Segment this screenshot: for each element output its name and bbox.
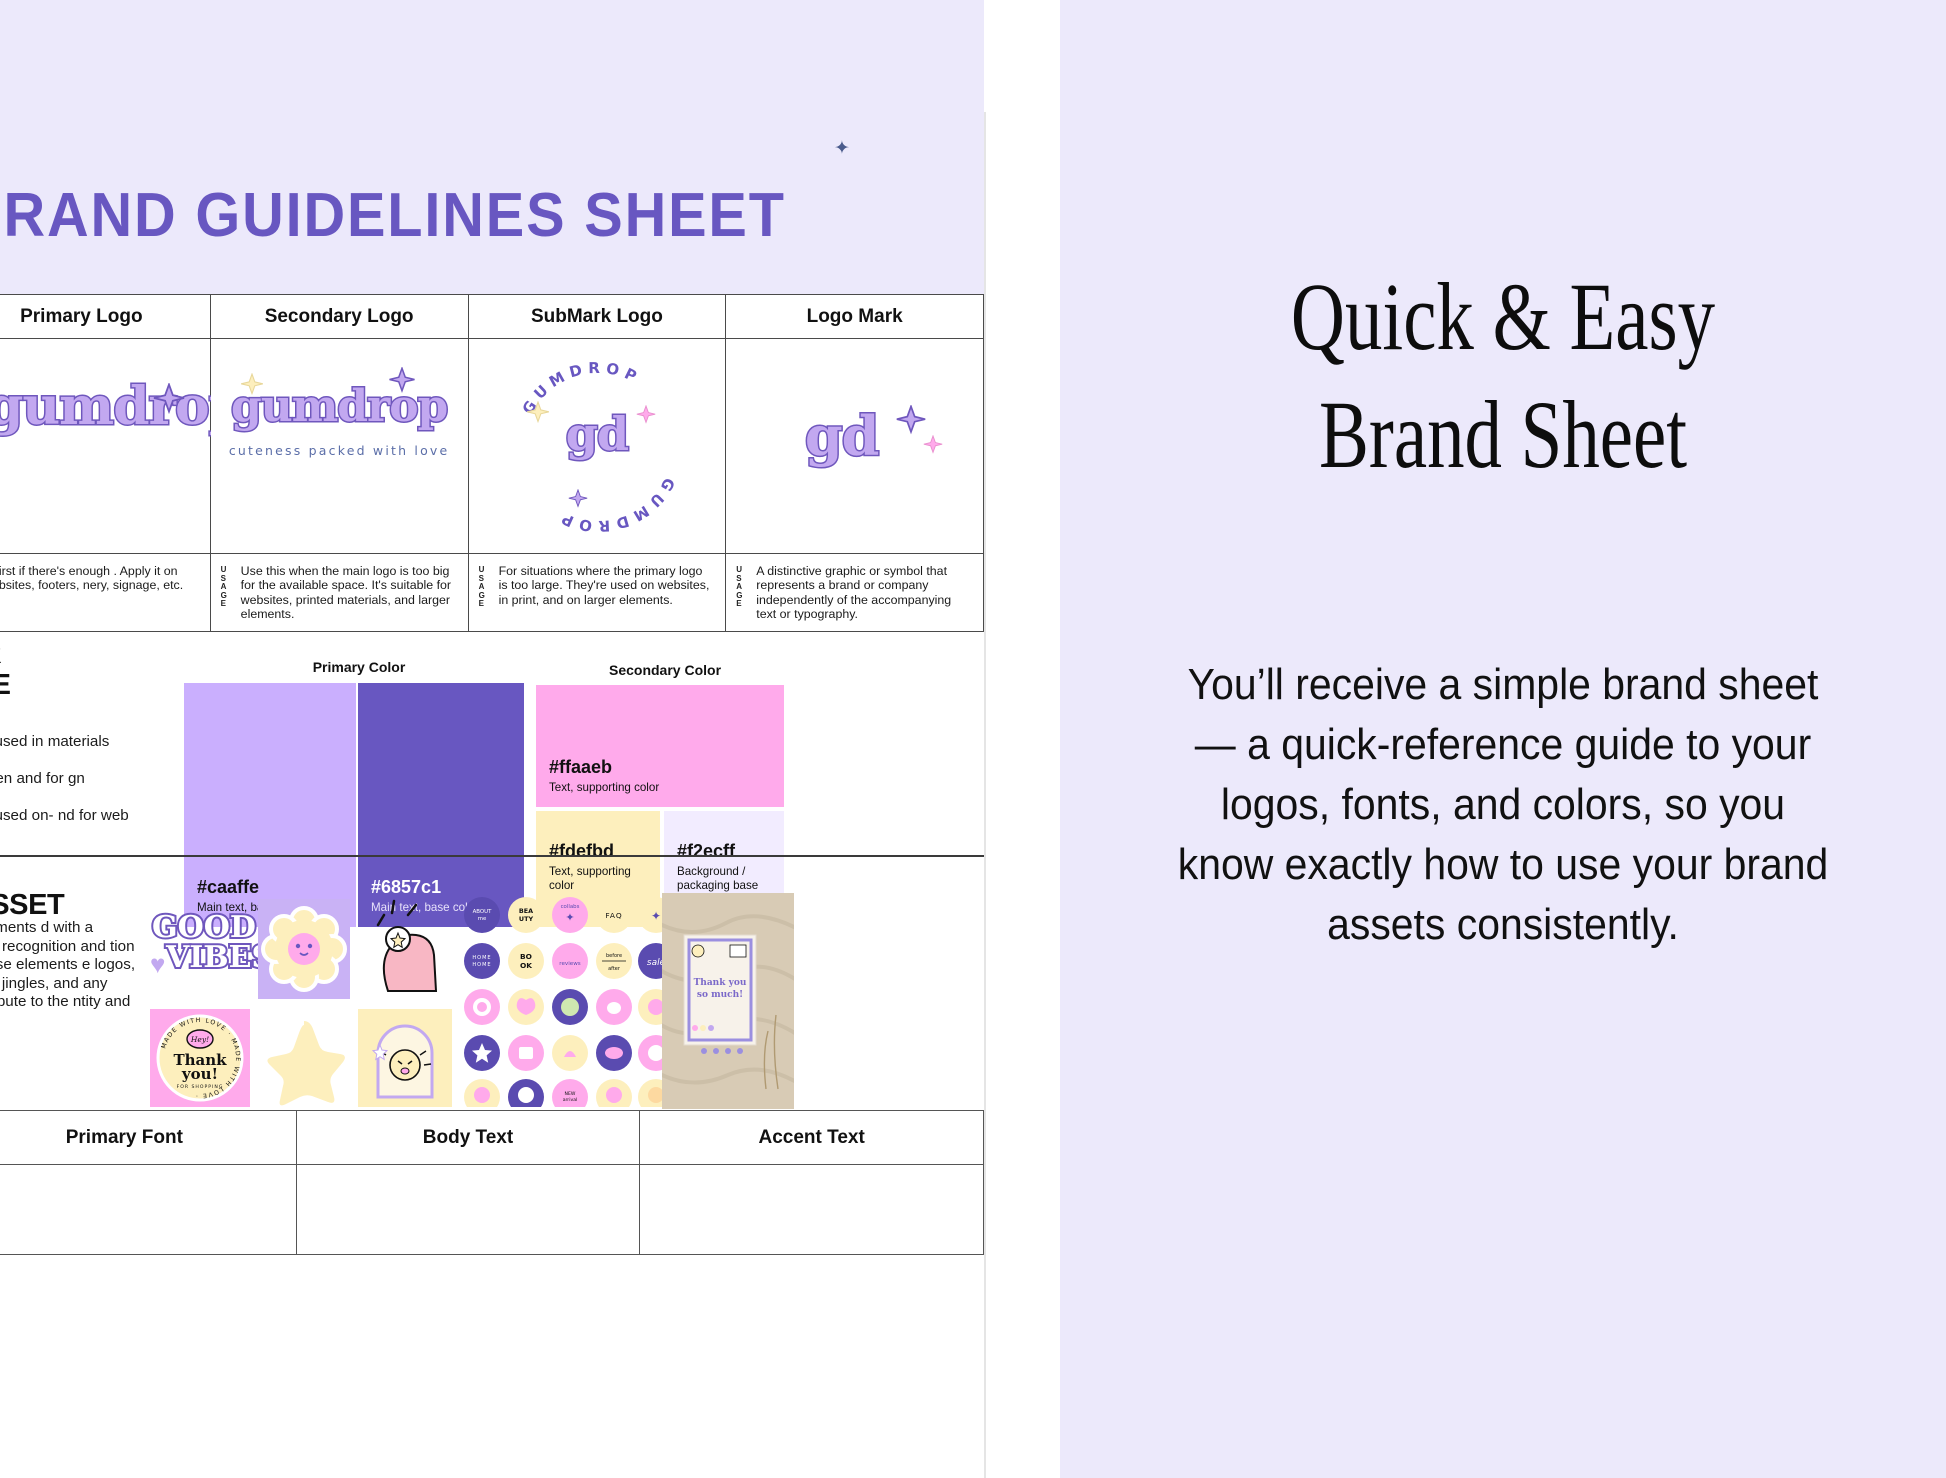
promo-panel: Quick & Easy Brand Sheet You’ll receive …	[1060, 0, 1946, 1478]
promo-headline: Quick & Easy Brand Sheet	[1157, 258, 1848, 494]
svg-text:ABOUT: ABOUT	[473, 909, 492, 915]
palette-desc-line-1: the colours used in materials	[0, 731, 156, 752]
svg-text:NEW: NEW	[565, 1091, 576, 1097]
paper-edge-shadow	[984, 112, 986, 1478]
palette-desc-line-2: sed on-screen and for gn	[0, 768, 156, 789]
usage-label: USAGE	[736, 566, 745, 609]
font-col-header-body: Body Text	[296, 1111, 640, 1165]
svg-text:collabs: collabs	[561, 904, 580, 910]
svg-text:BEA: BEA	[519, 907, 533, 915]
svg-text:✦: ✦	[651, 909, 661, 923]
swatch-usage: Background / packaging base	[677, 865, 775, 892]
svg-text:reviews: reviews	[559, 961, 580, 967]
sheet-body: Primary Logo Secondary Logo SubMark Logo…	[0, 294, 984, 1478]
svg-text:before: before	[606, 953, 622, 959]
svg-text:you!: you!	[181, 1065, 218, 1083]
svg-text:arrival: arrival	[563, 1097, 578, 1103]
swatch-hex: #fdefbd	[549, 841, 614, 862]
promo-headline-line1: Quick & Easy	[1157, 258, 1848, 376]
usage-label: USAGE	[479, 566, 488, 609]
sticker-arch-tile	[358, 1009, 452, 1107]
star-icon	[258, 1009, 350, 1107]
brand-asset-heading: ND ASSET	[0, 889, 64, 922]
svg-text:UTY: UTY	[519, 915, 534, 923]
svg-text:FOR SHOPPING: FOR SHOPPING	[177, 1084, 224, 1090]
usage-text: is first if there's enough . Apply it on…	[0, 564, 198, 593]
flower-icon	[258, 899, 350, 999]
logo-usage-table: Primary Logo Secondary Logo SubMark Logo…	[0, 294, 984, 632]
secondary-color-group-label: Secondary Color	[540, 662, 790, 678]
typography-table: Primary Font Body Text Accent Text	[0, 1110, 984, 1255]
svg-text:✦: ✦	[565, 911, 574, 924]
promo-headline-line2: Brand Sheet	[1157, 376, 1848, 494]
sticker-star	[258, 1009, 350, 1107]
thank-you-circle-icon: MADE WITH LOVE · MADE WITH LOVE · Hey! T…	[150, 1009, 250, 1107]
good-vibes-line1: GOOD	[152, 915, 256, 941]
swatch-usage: Text, supporting color	[549, 781, 659, 795]
logo-col-header-primary: Primary Logo	[0, 295, 210, 339]
primary-logo-usage-cell: USAGE is first if there's enough . Apply…	[0, 554, 210, 632]
logo-col-header-logomark: Logo Mark	[726, 295, 984, 339]
logo-col-header-submark: SubMark Logo	[468, 295, 726, 339]
swatch-hex: #ffaaeb	[549, 757, 612, 778]
star-icon	[567, 489, 589, 511]
palette-description: the colours used in materials sed on-scr…	[0, 731, 156, 863]
font-sample-accent	[640, 1165, 984, 1255]
usage-text: A distinctive graphic or symbol that rep…	[756, 564, 971, 622]
sticker-good-vibes: GOOD VIBES ♥	[150, 899, 250, 997]
font-col-header-accent: Accent Text	[640, 1111, 984, 1165]
logo-mark-cell: gd	[726, 339, 984, 554]
hand-ok-icon	[358, 895, 452, 999]
sparkle-icon: ✦	[834, 139, 850, 158]
primary-color-group-label: Primary Color	[226, 659, 492, 675]
brand-sheet-preview: BRAND GUIDELINES SHEET ✦ Primary Logo Se…	[0, 0, 1060, 1478]
svg-text:Hey!: Hey!	[190, 1035, 209, 1044]
svg-text:FAQ: FAQ	[605, 911, 622, 920]
svg-text:after: after	[608, 966, 621, 972]
usage-text: For situations where the primary logo is…	[499, 564, 714, 607]
swatch-usage: Text, supporting color	[549, 865, 643, 892]
usage-label: USAGE	[221, 566, 230, 609]
submark-logo-cell: GUMDROP GUMDROP gd	[468, 339, 726, 554]
font-sample-body	[296, 1165, 640, 1255]
star-icon	[525, 401, 551, 427]
svg-text:OK: OK	[520, 961, 532, 970]
primary-logo-wordmark-top: gumdrop	[0, 381, 244, 433]
font-sample-primary	[0, 1165, 296, 1255]
font-table-sample-row	[0, 1165, 984, 1255]
star-icon	[894, 405, 928, 439]
palette-heading-line1: OUR	[0, 639, 11, 670]
palette-heading: OUR ETTE	[0, 639, 11, 701]
font-table-header-row: Primary Font Body Text Accent Text	[0, 1111, 984, 1165]
sticker-sheet-circles: ABOUTme BEAUTY collabs✦ FAQ ✦ HOMEHOME B…	[460, 895, 670, 1107]
svg-text:Thank you: Thank you	[694, 978, 747, 988]
section-divider	[0, 855, 984, 857]
submark-monogram: gd	[469, 411, 726, 457]
svg-text:HOME: HOME	[472, 955, 491, 961]
star-icon	[387, 367, 417, 397]
swatch-6857c1: #6857c1 Main text, base color	[358, 683, 524, 927]
svg-text:me: me	[478, 916, 487, 922]
sticker-circle-grid-icon: ABOUTme BEAUTY collabs✦ FAQ ✦ HOMEHOME B…	[460, 895, 670, 1107]
secondary-logo-usage-cell: USAGE Use this when the main logo is too…	[210, 554, 468, 632]
sticker-thank-you: MADE WITH LOVE · MADE WITH LOVE · Hey! T…	[150, 1009, 250, 1107]
swatch-hex: #f2ecff	[677, 841, 735, 862]
sticker-hand	[358, 895, 452, 999]
primary-logo-cell: gumdrop	[0, 339, 210, 554]
logo-table-header-row: Primary Logo Secondary Logo SubMark Logo…	[0, 295, 984, 339]
secondary-logo-tagline: cuteness packed with love	[211, 443, 468, 458]
swatch-ffaaeb: #ffaaeb Text, supporting color	[536, 685, 784, 807]
usage-text: Use this when the main logo is too big f…	[241, 564, 456, 622]
brand-asset-description: distinctive elements d with a brand that…	[0, 919, 136, 1031]
font-col-header-primary: Primary Font	[0, 1111, 296, 1165]
heart-icon: ♥	[150, 949, 165, 980]
svg-text:HOME: HOME	[472, 962, 491, 968]
star-icon	[151, 383, 187, 419]
page-title: BRAND GUIDELINES SHEET	[0, 180, 890, 251]
star-icon	[635, 405, 657, 427]
sticker-flower-tile	[258, 899, 350, 999]
svg-text:BO: BO	[520, 952, 532, 961]
arch-frame-icon	[358, 1009, 452, 1107]
logo-mark-usage-cell: USAGE A distinctive graphic or symbol th…	[726, 554, 984, 632]
logo-table-art-row: gumdrop gumdrop cuteness packed with lov…	[0, 339, 984, 554]
logo-table-usage-row: USAGE is first if there's enough . Apply…	[0, 554, 984, 632]
palette-heading-line2: ETTE	[0, 670, 11, 701]
secondary-logo-cell: gumdrop cuteness packed with love	[210, 339, 468, 554]
promo-body-text: You’ll receive a simple brand sheet — a …	[1173, 655, 1833, 955]
star-icon	[239, 373, 265, 399]
sheet-header-band: BRAND GUIDELINES SHEET ✦	[0, 0, 984, 294]
thank-you-card-photo: Thank you so much!	[662, 893, 794, 1109]
card-mockup-image: Thank you so much!	[662, 893, 794, 1109]
submark-logo-usage-cell: USAGE For situations where the primary l…	[468, 554, 726, 632]
palette-desc-line-3: our code is used on- nd for web design.	[0, 805, 156, 847]
swatch-hex: #caaffe	[197, 877, 259, 898]
star-icon	[922, 435, 944, 457]
swatch-caaffe: #caaffe Main text, base color	[184, 683, 356, 927]
svg-text:so much!: so much!	[697, 990, 743, 1000]
logo-col-header-secondary: Secondary Logo	[210, 295, 468, 339]
